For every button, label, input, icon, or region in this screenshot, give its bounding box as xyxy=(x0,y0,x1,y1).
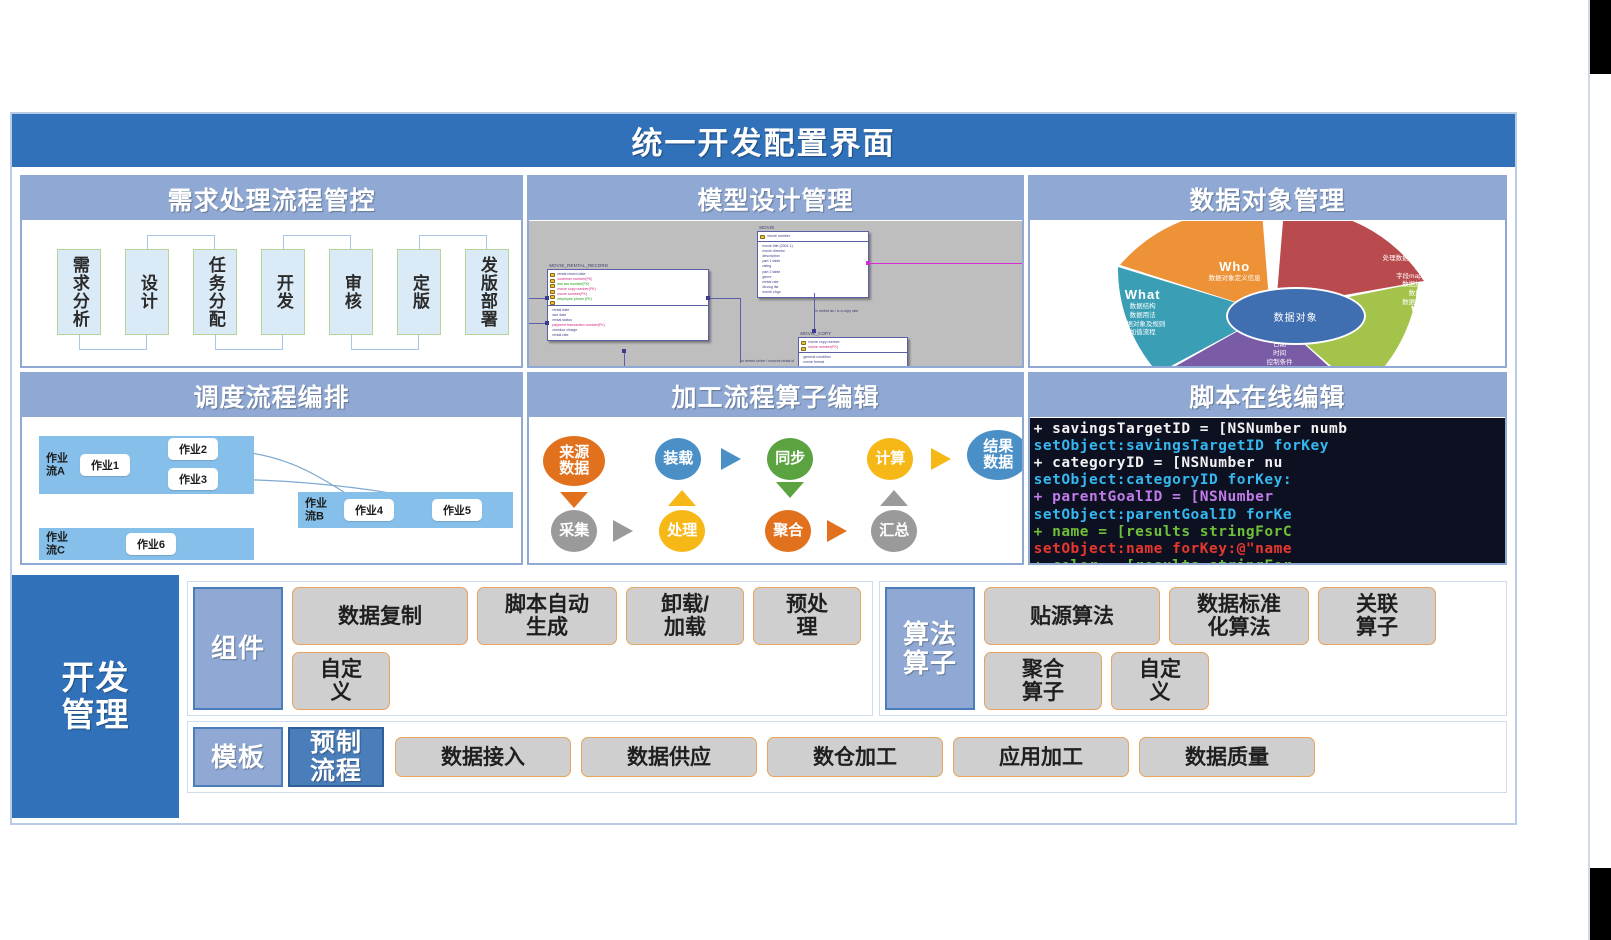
er-field: rental rate xyxy=(552,333,706,338)
tag-source-algorithm[interactable]: 贴源算法 xyxy=(984,587,1160,645)
arrow-down-icon xyxy=(560,492,588,508)
flow-step-4[interactable]: 开发 xyxy=(261,249,305,335)
pie-label-en: How xyxy=(1348,239,1496,254)
er-connector xyxy=(709,298,741,299)
flow-connector-top-3 xyxy=(419,235,487,250)
panel-title-model-design: 模型设计管理 xyxy=(697,181,853,217)
dev-management-content: 组件 数据复制 脚本自动 生成 卸载/ 加载 预处 理 自定 义 算法 算子 xyxy=(179,575,1515,818)
board-title-bar: 统一开发配置界面 xyxy=(12,114,1515,169)
panel-header-model-design: 模型设计管理 xyxy=(529,177,1021,221)
code-line: setObject:name forKey:@"name xyxy=(1034,541,1505,558)
er-connector-dot xyxy=(866,261,870,265)
er-attr-block: general condition movie format xyxy=(799,353,907,366)
er-entity-movie[interactable]: MOVIE movie number movie title (2001.1) … xyxy=(757,231,869,298)
er-connector-highlight xyxy=(869,263,1021,264)
dev-category-algorithm[interactable]: 算法 算子 xyxy=(885,587,975,710)
panel-header-script: 脚本在线编辑 xyxy=(1030,374,1505,418)
panel-body-script: + savingsTargetID = [NSNumber numb setOb… xyxy=(1030,418,1505,563)
job-group-label: 作业 流A xyxy=(46,452,80,477)
job-group-label: 作业 流B xyxy=(305,497,339,522)
er-field: movie number(FK) xyxy=(808,345,905,350)
er-connector xyxy=(740,298,741,363)
flow-connector-top-1 xyxy=(147,235,215,250)
code-line: setObject:categoryID forKey: xyxy=(1034,472,1505,489)
pie-label-group: How 处理数据的逻辑数据及算法 数据 字段mapping信息 数据加工规则 数… xyxy=(1348,239,1496,308)
pie-label-cn: 数据对象定义信息 xyxy=(1160,275,1310,284)
tag-custom-operator[interactable]: 自定 义 xyxy=(1111,652,1209,710)
tag-standardization-algorithm[interactable]: 数据标准 化算法 xyxy=(1169,587,1309,645)
operator-node-collect[interactable]: 采集 xyxy=(551,510,597,552)
requirement-flow-diagram: 需求分析 设计 任务分配 开发 审核 定版 发版部署 xyxy=(22,221,521,366)
flow-step-label: 需求分析 xyxy=(70,256,88,328)
dev-category-template[interactable]: 模板 xyxy=(193,727,283,787)
dev-group-algorithm: 算法 算子 贴源算法 数据标准 化算法 关联 算子 聚合 算子 自定 义 xyxy=(879,581,1507,716)
code-line: + color = [results stringFor xyxy=(1034,558,1505,563)
job-group-label: 作业 流C xyxy=(46,531,80,556)
flow-step-2[interactable]: 设计 xyxy=(125,249,169,335)
pie-label-group: Where 存放数据的位置 Mapping关系 xyxy=(1368,303,1500,337)
pie-label-cn: 数据结构 数据用法 数据对象及规则 加值流程 xyxy=(1078,303,1208,338)
tag-application-process[interactable]: 应用加工 xyxy=(953,737,1129,777)
dev-row-bottom: 模板 预制 流程 数据接入 数据供应 数仓加工 应用加工 数据质量 xyxy=(187,721,1507,793)
operator-node-summary[interactable]: 汇总 xyxy=(871,510,917,552)
tag-script-auto-gen[interactable]: 脚本自动 生成 xyxy=(477,587,617,645)
panel-header-schedule: 调度流程编排 xyxy=(22,374,521,418)
right-edge-bar-bottom xyxy=(1590,868,1611,940)
er-entity-caption: MOVIE_RENTAL_RECORD xyxy=(549,263,608,269)
flow-step-3[interactable]: 任务分配 xyxy=(193,249,237,335)
er-field: movie number xyxy=(767,234,866,239)
operator-node-process[interactable]: 处理 xyxy=(659,510,705,552)
flow-connector-bottom-2 xyxy=(215,335,283,350)
panel-area: 需求处理流程管控 需求分析 设计 任务分配 开发 审核 定版 发版部署 xyxy=(12,169,1515,573)
flow-step-label: 设计 xyxy=(138,274,156,310)
er-entity-movie-copy[interactable]: MOVIE_COPY movie copy number movie numbe… xyxy=(798,337,908,366)
er-connector-dot xyxy=(706,296,710,300)
arrow-right-icon xyxy=(721,448,741,470)
job-node-6[interactable]: 作业6 xyxy=(126,533,176,555)
er-key-block: movie number xyxy=(758,232,868,242)
slide-canvas: 统一开发配置界面 需求处理流程管控 需求分析 设计 任务分配 开发 xyxy=(0,0,1611,940)
job-node-4[interactable]: 作业4 xyxy=(344,499,394,521)
flow-step-5[interactable]: 审核 xyxy=(329,249,373,335)
tag-preprocess[interactable]: 预处 理 xyxy=(753,587,861,645)
pie-label-cn: 日期 时间 控制条件 xyxy=(1220,341,1340,366)
dev-subcategory-preset-flow[interactable]: 预制 流程 xyxy=(288,727,384,787)
er-diagram[interactable]: MOVIE_RENTAL_RECORD rental record date c… xyxy=(529,221,1021,366)
dev-group-template: 模板 预制 流程 数据接入 数据供应 数仓加工 应用加工 数据质量 xyxy=(187,721,1507,793)
panel-body-operator: 来源 数据 采集 处理 装载 同步 聚合 xyxy=(529,418,1021,563)
er-field: employee phone (FK) xyxy=(557,297,706,302)
flow-connector-bottom-3 xyxy=(351,335,419,350)
er-key-block: rental record date customer number(FK) s… xyxy=(548,270,708,306)
operator-node-compute[interactable]: 计算 xyxy=(867,438,913,480)
panel-script[interactable]: 脚本在线编辑 + savingsTargetID = [NSNumber num… xyxy=(1028,372,1507,565)
flow-step-7[interactable]: 发版部署 xyxy=(465,249,509,335)
panel-schedule[interactable]: 调度流程编排 作业 流A xyxy=(20,372,523,565)
er-field: movie format xyxy=(803,360,905,365)
panel-row-1: 需求处理流程管控 需求分析 设计 任务分配 开发 审核 定版 发版部署 xyxy=(20,175,1507,368)
arrow-right-icon xyxy=(931,448,951,470)
data-object-pie-chart: Who 数据对象定义信息 How 处理数据的逻辑数据及算法 数据 字段mappi… xyxy=(1030,221,1505,366)
pie-label-group: What 数据结构 数据用法 数据对象及规则 加值流程 xyxy=(1078,287,1208,338)
operator-flow-diagram: 来源 数据 采集 处理 装载 同步 聚合 xyxy=(529,418,1021,563)
operator-node-aggregate[interactable]: 聚合 xyxy=(765,510,811,552)
panel-title-requirement: 需求处理流程管控 xyxy=(168,181,376,217)
dev-tags-template: 数据接入 数据供应 数仓加工 应用加工 数据质量 xyxy=(389,727,1501,787)
dev-tags-algorithm: 贴源算法 数据标准 化算法 关联 算子 聚合 算子 自定 义 xyxy=(980,587,1501,710)
tag-warehouse-process[interactable]: 数仓加工 xyxy=(767,737,943,777)
job-node-5[interactable]: 作业5 xyxy=(432,499,482,521)
operator-node-result[interactable]: 结果 数据 xyxy=(967,430,1021,480)
pie-label-cn: 存放数据的位置 Mapping关系 xyxy=(1368,319,1500,337)
tag-data-copy[interactable]: 数据复制 xyxy=(292,587,468,645)
er-connector xyxy=(624,351,625,366)
flow-step-6[interactable]: 定版 xyxy=(397,249,441,335)
operator-node-source[interactable]: 来源 数据 xyxy=(543,436,605,486)
panel-title-operator: 加工流程算子编辑 xyxy=(671,378,879,414)
job-flow-diagram: 作业 流A 作业1 作业2 作业3 作业 流B 作业4 作业5 作业 流 xyxy=(22,418,521,563)
main-board: 统一开发配置界面 需求处理流程管控 需求分析 设计 任务分配 开发 xyxy=(10,112,1517,825)
panel-header-data-object: 数据对象管理 xyxy=(1030,177,1505,221)
panel-requirement[interactable]: 需求处理流程管控 需求分析 设计 任务分配 开发 审核 定版 发版部署 xyxy=(20,175,523,368)
er-connector-dot xyxy=(545,321,549,325)
job-node-3[interactable]: 作业3 xyxy=(168,468,218,490)
operator-node-load[interactable]: 装载 xyxy=(655,438,701,480)
pie-label-en: What xyxy=(1078,287,1208,302)
code-line: setObject:savingsTargetID forKey xyxy=(1034,438,1505,455)
arrow-up-icon xyxy=(880,490,908,506)
pie-label-en: Where xyxy=(1368,303,1500,318)
flow-step-label: 定版 xyxy=(410,274,428,310)
flow-step-1[interactable]: 需求分析 xyxy=(57,249,101,335)
panel-body-schedule: 作业 流A 作业1 作业2 作业3 作业 流B 作业4 作业5 作业 流 xyxy=(22,418,521,563)
er-relation-label-1: is rented as / is a copy rate xyxy=(815,309,858,314)
tag-data-quality[interactable]: 数据质量 xyxy=(1139,737,1315,777)
tag-data-ingest[interactable]: 数据接入 xyxy=(395,737,571,777)
job-group-a[interactable]: 作业 流A xyxy=(39,436,254,494)
er-key-block: movie copy number movie number(FK) xyxy=(799,338,907,353)
er-relation-label-2: is rented under / records rental of xyxy=(741,359,794,364)
pie-label-en: Who xyxy=(1160,259,1310,274)
panel-header-requirement: 需求处理流程管控 xyxy=(22,177,521,221)
code-editor[interactable]: + savingsTargetID = [NSNumber numb setOb… xyxy=(1030,418,1505,563)
flow-connector-top-2 xyxy=(283,235,351,250)
operator-node-sync[interactable]: 同步 xyxy=(767,438,813,480)
panel-body-requirement: 需求分析 设计 任务分配 开发 审核 定版 发版部署 xyxy=(22,221,521,366)
er-attr-block: rental date due date rental status payme… xyxy=(548,306,708,341)
panel-body-model-design: MOVIE_RENTAL_RECORD rental record date c… xyxy=(529,221,1021,366)
dev-category-component[interactable]: 组件 xyxy=(193,587,283,710)
tag-join-operator[interactable]: 关联 算子 xyxy=(1318,587,1436,645)
code-line: + categoryID = [NSNumber nu xyxy=(1034,455,1505,472)
er-attr-block: movie title (2001.1) movie director desc… xyxy=(758,242,868,297)
dev-row-top: 组件 数据复制 脚本自动 生成 卸载/ 加载 预处 理 自定 义 算法 算子 xyxy=(187,581,1507,716)
arrow-up-icon xyxy=(668,490,696,506)
panel-model-design[interactable]: 模型设计管理 MOVIE_RENTAL_RECORD rental record… xyxy=(527,175,1023,368)
panel-data-object[interactable]: 数据对象管理 xyxy=(1028,175,1507,368)
tag-aggregate-operator[interactable]: 聚合 算子 xyxy=(984,652,1102,710)
code-line: + savingsTargetID = [NSNumber numb xyxy=(1034,421,1505,438)
dev-group-component: 组件 数据复制 脚本自动 生成 卸载/ 加载 预处 理 自定 义 xyxy=(187,581,873,716)
tag-custom-component[interactable]: 自定 义 xyxy=(292,652,390,710)
job-node-2[interactable]: 作业2 xyxy=(168,438,218,460)
flow-step-label: 审核 xyxy=(342,274,360,310)
panel-header-operator: 加工流程算子编辑 xyxy=(529,374,1021,418)
job-node-1[interactable]: 作业1 xyxy=(80,454,130,476)
panel-title-schedule: 调度流程编排 xyxy=(194,378,350,414)
er-entity-movie-rental-record[interactable]: MOVIE_RENTAL_RECORD rental record date c… xyxy=(547,269,709,341)
dev-management-section: 开发 管理 组件 数据复制 脚本自动 生成 卸载/ 加载 预处 理 自定 义 xyxy=(12,573,1515,818)
er-connector-dot xyxy=(812,329,816,333)
code-line: setObject:parentGoalID forKe xyxy=(1034,507,1505,524)
arrow-down-icon xyxy=(776,482,804,498)
er-connector-dot xyxy=(545,296,549,300)
dev-management-label: 开发 管理 xyxy=(12,575,179,818)
panel-title-script: 脚本在线编辑 xyxy=(1189,378,1345,414)
tag-unload-load[interactable]: 卸载/ 加载 xyxy=(626,587,744,645)
pie-center-label: 数据对象 xyxy=(1226,287,1366,345)
dev-tags-component: 数据复制 脚本自动 生成 卸载/ 加载 预处 理 自定 义 xyxy=(288,587,867,710)
pie-label-group: Who 数据对象定义信息 xyxy=(1160,259,1310,284)
er-connector-dot xyxy=(622,349,626,353)
flow-step-label: 发版部署 xyxy=(478,256,496,328)
pie-label-cn: 处理数据的逻辑数据及算法 数据 字段mapping信息 数据加工规则 数据属性 … xyxy=(1348,255,1496,308)
flow-step-label: 开发 xyxy=(274,274,292,310)
flow-step-label: 任务分配 xyxy=(206,256,224,328)
code-line: + name = [results stringForC xyxy=(1034,524,1505,541)
right-edge-bar-top xyxy=(1590,0,1611,74)
er-entity-caption: MOVIE xyxy=(759,225,774,231)
arrow-right-icon xyxy=(613,520,633,542)
right-edge-divider xyxy=(1588,0,1590,940)
panel-row-2: 调度流程编排 作业 流A xyxy=(20,372,1507,565)
arrow-right-icon xyxy=(827,520,847,542)
panel-title-data-object: 数据对象管理 xyxy=(1189,181,1345,217)
code-line: + parentGoalID = [NSNumber xyxy=(1034,489,1505,506)
tag-data-supply[interactable]: 数据供应 xyxy=(581,737,757,777)
page-title: 统一开发配置界面 xyxy=(632,118,896,163)
flow-connector-bottom-1 xyxy=(79,335,147,350)
panel-body-data-object: Who 数据对象定义信息 How 处理数据的逻辑数据及算法 数据 字段mappi… xyxy=(1030,221,1505,366)
panel-operator[interactable]: 加工流程算子编辑 来源 数据 采集 处理 装载 同步 xyxy=(527,372,1023,565)
